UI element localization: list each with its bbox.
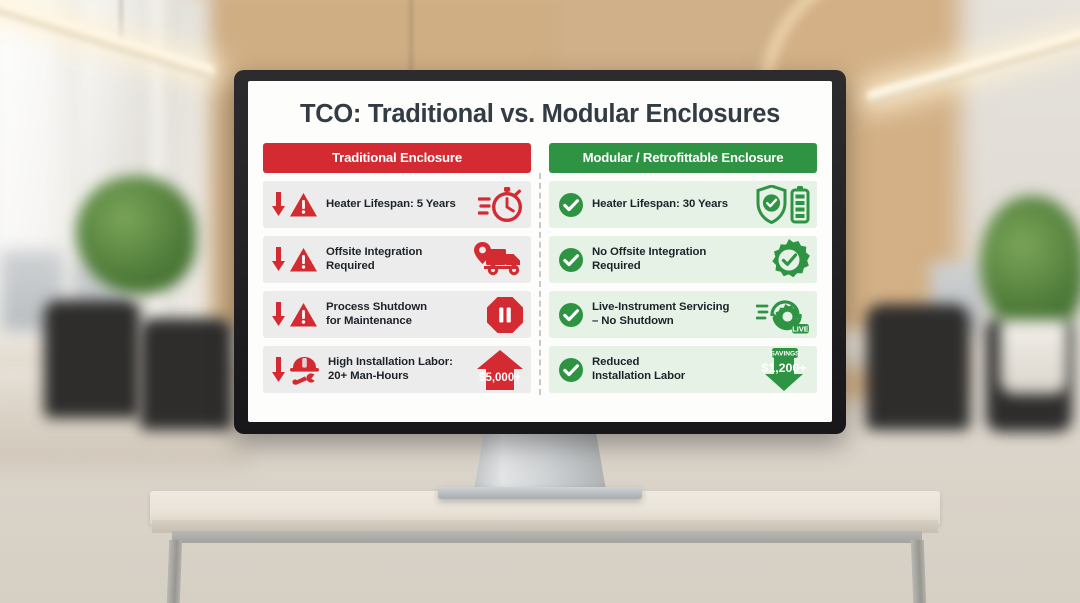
row-line1: Process Shutdown <box>326 301 458 315</box>
table-row[interactable]: Reduced Installation Labor SAVINGS $1,20… <box>549 346 817 393</box>
desktop-monitor: TCO: Traditional vs. Modular Enclosures … <box>234 70 846 434</box>
check-circle-icon <box>558 247 584 273</box>
row-line1: Reduced <box>592 356 744 370</box>
comparison-columns: Traditional Enclosure <box>260 143 820 393</box>
table-row[interactable]: Heater Lifespan: 5 Years <box>263 181 531 228</box>
savings-badge-label: SAVINGS <box>770 350 800 357</box>
column-header-traditional: Traditional Enclosure <box>263 143 531 173</box>
row-art: $5,000+ <box>462 349 524 391</box>
down-arrow-icon <box>272 247 285 273</box>
savings-amount-label: $1,200+ <box>761 361 806 375</box>
plant-pot <box>1000 320 1068 394</box>
row-line2: Required <box>592 260 744 274</box>
gear-check-icon <box>768 239 810 281</box>
row-label: Heater Lifespan: 5 Years <box>326 198 458 212</box>
down-arrow-icon <box>272 302 285 328</box>
table-row[interactable]: Live-Instrument Servicing – No Shutdown <box>549 291 817 338</box>
column-header-modular: Modular / Retrofittable Enclosure <box>549 143 817 173</box>
table-row[interactable]: No Offsite Integration Required <box>549 236 817 283</box>
row-line2: 20+ Man-Hours <box>328 370 458 384</box>
row-art: LIVE <box>748 294 810 336</box>
potted-plant <box>76 176 196 294</box>
row-line1: High Installation Labor: <box>328 356 458 370</box>
column-modular: Modular / Retrofittable Enclosure Heater… <box>540 143 817 393</box>
row-art <box>462 184 524 226</box>
pause-octagon-icon <box>486 296 524 334</box>
office-chair <box>140 318 232 430</box>
row-label: Process Shutdown for Maintenance <box>326 301 458 329</box>
status-icons <box>558 357 584 383</box>
row-line1: Offsite Integration <box>326 246 458 260</box>
row-line2: Required <box>326 260 458 274</box>
row-line2: – No Shutdown <box>592 315 744 329</box>
status-icons <box>558 247 584 273</box>
row-art: SAVINGS $1,200+ <box>748 349 810 391</box>
desk-leg-left <box>167 540 182 603</box>
column-traditional: Traditional Enclosure <box>263 143 540 393</box>
table-row[interactable]: High Installation Labor: 20+ Man-Hours $… <box>263 346 531 393</box>
row-line2: for Maintenance <box>326 315 458 329</box>
gear-refresh-icon: LIVE <box>756 294 810 336</box>
row-line1: No Offsite Integration <box>592 246 744 260</box>
page-title: TCO: Traditional vs. Modular Enclosures <box>260 100 820 129</box>
warning-triangle-icon <box>289 247 318 273</box>
column-divider <box>539 173 541 395</box>
row-line1: Live-Instrument Servicing <box>592 301 744 315</box>
status-icons <box>272 302 318 328</box>
table-row[interactable]: Process Shutdown for Maintenance <box>263 291 531 338</box>
shield-battery-icon <box>756 185 810 225</box>
status-icons <box>272 355 320 385</box>
table-row[interactable]: Offsite Integration Required <box>263 236 531 283</box>
monitor-screen: TCO: Traditional vs. Modular Enclosures … <box>248 81 832 422</box>
presentation-slide: TCO: Traditional vs. Modular Enclosures … <box>248 81 832 422</box>
cost-label: $5,000+ <box>479 372 521 384</box>
warning-triangle-icon <box>289 192 318 218</box>
stopwatch-icon <box>478 185 524 225</box>
warning-triangle-icon <box>289 302 318 328</box>
up-arrow-cost-icon: $5,000+ <box>476 349 524 391</box>
monitor-stand-base <box>438 487 642 499</box>
row-line1: Heater Lifespan: 30 Years <box>592 198 728 210</box>
desk-apron <box>172 531 922 543</box>
row-label: Reduced Installation Labor <box>592 356 744 384</box>
check-circle-icon <box>558 302 584 328</box>
down-arrow-icon <box>272 356 285 384</box>
row-label: Live-Instrument Servicing – No Shutdown <box>592 301 744 329</box>
delivery-truck-icon <box>474 242 524 278</box>
row-art <box>748 184 810 226</box>
live-badge-label: LIVE <box>792 324 808 333</box>
office-chair <box>44 300 140 418</box>
row-art <box>462 294 524 336</box>
office-chair <box>866 304 970 430</box>
row-art <box>748 239 810 281</box>
desk-leg-right <box>911 540 926 603</box>
row-line2: Installation Labor <box>592 370 744 384</box>
row-label: Heater Lifespan: 30 Years <box>592 198 744 212</box>
table-row[interactable]: Heater Lifespan: 30 Years <box>549 181 817 228</box>
row-line1: Heater Lifespan: 5 Years <box>326 198 456 210</box>
row-label: Offsite Integration Required <box>326 246 458 274</box>
row-label: High Installation Labor: 20+ Man-Hours <box>328 356 458 384</box>
check-circle-icon <box>558 357 584 383</box>
check-circle-icon <box>558 192 584 218</box>
down-arrow-icon <box>272 192 285 218</box>
status-icons <box>272 247 318 273</box>
down-arrow-savings-icon: SAVINGS $1,200+ <box>758 348 810 392</box>
row-art <box>462 239 524 281</box>
row-label: No Offsite Integration Required <box>592 246 744 274</box>
status-icons <box>558 302 584 328</box>
hardhat-wrench-icon <box>289 355 320 385</box>
status-icons <box>558 192 584 218</box>
status-icons <box>272 192 318 218</box>
